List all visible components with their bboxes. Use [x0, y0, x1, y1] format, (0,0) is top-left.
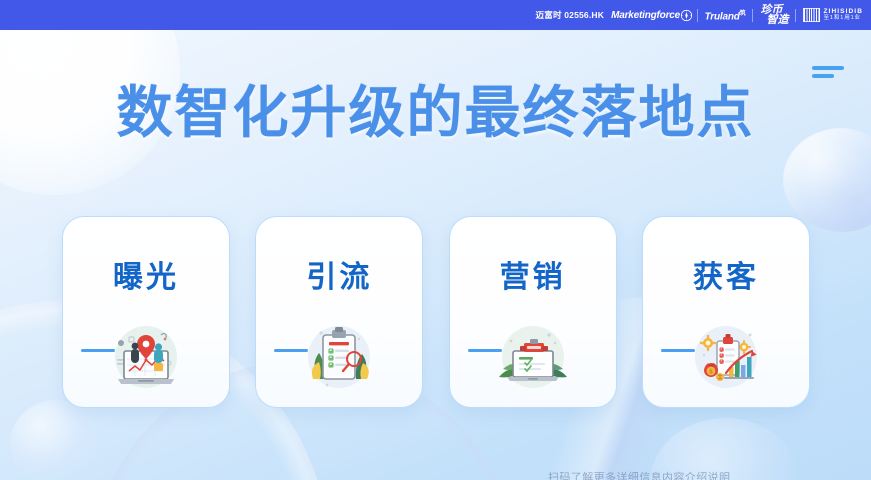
marketingforce-logo: Marketingforce [611, 9, 689, 22]
stock-ticker-label: 迈富时 02556.HK [536, 9, 605, 21]
compass-icon [680, 9, 693, 22]
truland-logo-text: Truland [705, 11, 740, 22]
truland-logo-sup: 筑 [740, 11, 746, 17]
feature-card-exposure-label: 曝光 [63, 263, 229, 293]
feature-card-acquisition[interactable]: 获客 [642, 216, 810, 408]
feature-card-traffic-label: 引流 [256, 263, 422, 293]
footer-cut-text: 扫码了解更多详细信息内容介绍说明 [548, 470, 730, 480]
hamburger-menu-icon[interactable] [812, 66, 844, 82]
laptop-checklist-leaves-icon [491, 313, 575, 397]
top-brand-bar: 迈富时 02556.HK Marketingforce Truland筑 [0, 0, 871, 30]
zihisidib-logo-text: ZIHISIDIB 至1和1用1业 [823, 9, 863, 22]
page-title: 数智化升级的最终落地点 [0, 86, 871, 142]
marketingforce-logo-text: Marketingforce [611, 10, 680, 21]
feature-card-acquisition-label: 获客 [643, 263, 809, 293]
slide-canvas: 迈富时 02556.HK Marketingforce Truland筑 [0, 0, 871, 480]
brand-logo-row: 迈富时 02556.HK Marketingforce Truland筑 [536, 0, 863, 30]
footer-cut-text-strip: 扫码了解更多详细信息内容介绍说明 [0, 470, 871, 480]
feature-card-row: 曝光 [62, 216, 810, 408]
feature-card-marketing-label: 营销 [450, 263, 616, 293]
brand-divider-3 [795, 9, 796, 22]
feature-card-traffic[interactable]: 引流 [255, 216, 423, 408]
menu-icon-line-1 [812, 66, 844, 70]
zihisidib-logo-line2: 至1和1用1业 [823, 16, 863, 22]
zihisidib-logo: ZIHISIDIB 至1和1用1业 [803, 8, 863, 22]
feature-card-marketing[interactable]: 营销 [449, 216, 617, 408]
moneybag-growth-chart-clipboard-icon: $ [684, 313, 768, 397]
laptop-analytics-location-pin-icon [104, 313, 188, 397]
zhihui-logo-line2: 智造 [766, 15, 788, 25]
svg-text:$: $ [709, 369, 713, 376]
brand-divider-1 [697, 9, 698, 22]
feature-card-exposure[interactable]: 曝光 [62, 216, 230, 408]
clipboard-checklist-magnifier-icon [297, 313, 381, 397]
menu-icon-line-2 [812, 74, 834, 78]
zhihui-logo-text: 珍币 智造 [760, 5, 788, 25]
bubble-bottom-left [10, 400, 102, 480]
barcode-icon [803, 8, 820, 22]
zhihui-logo: 珍币 智造 [760, 5, 788, 25]
brand-divider-2 [752, 9, 753, 22]
truland-logo: Truland筑 [705, 8, 746, 22]
